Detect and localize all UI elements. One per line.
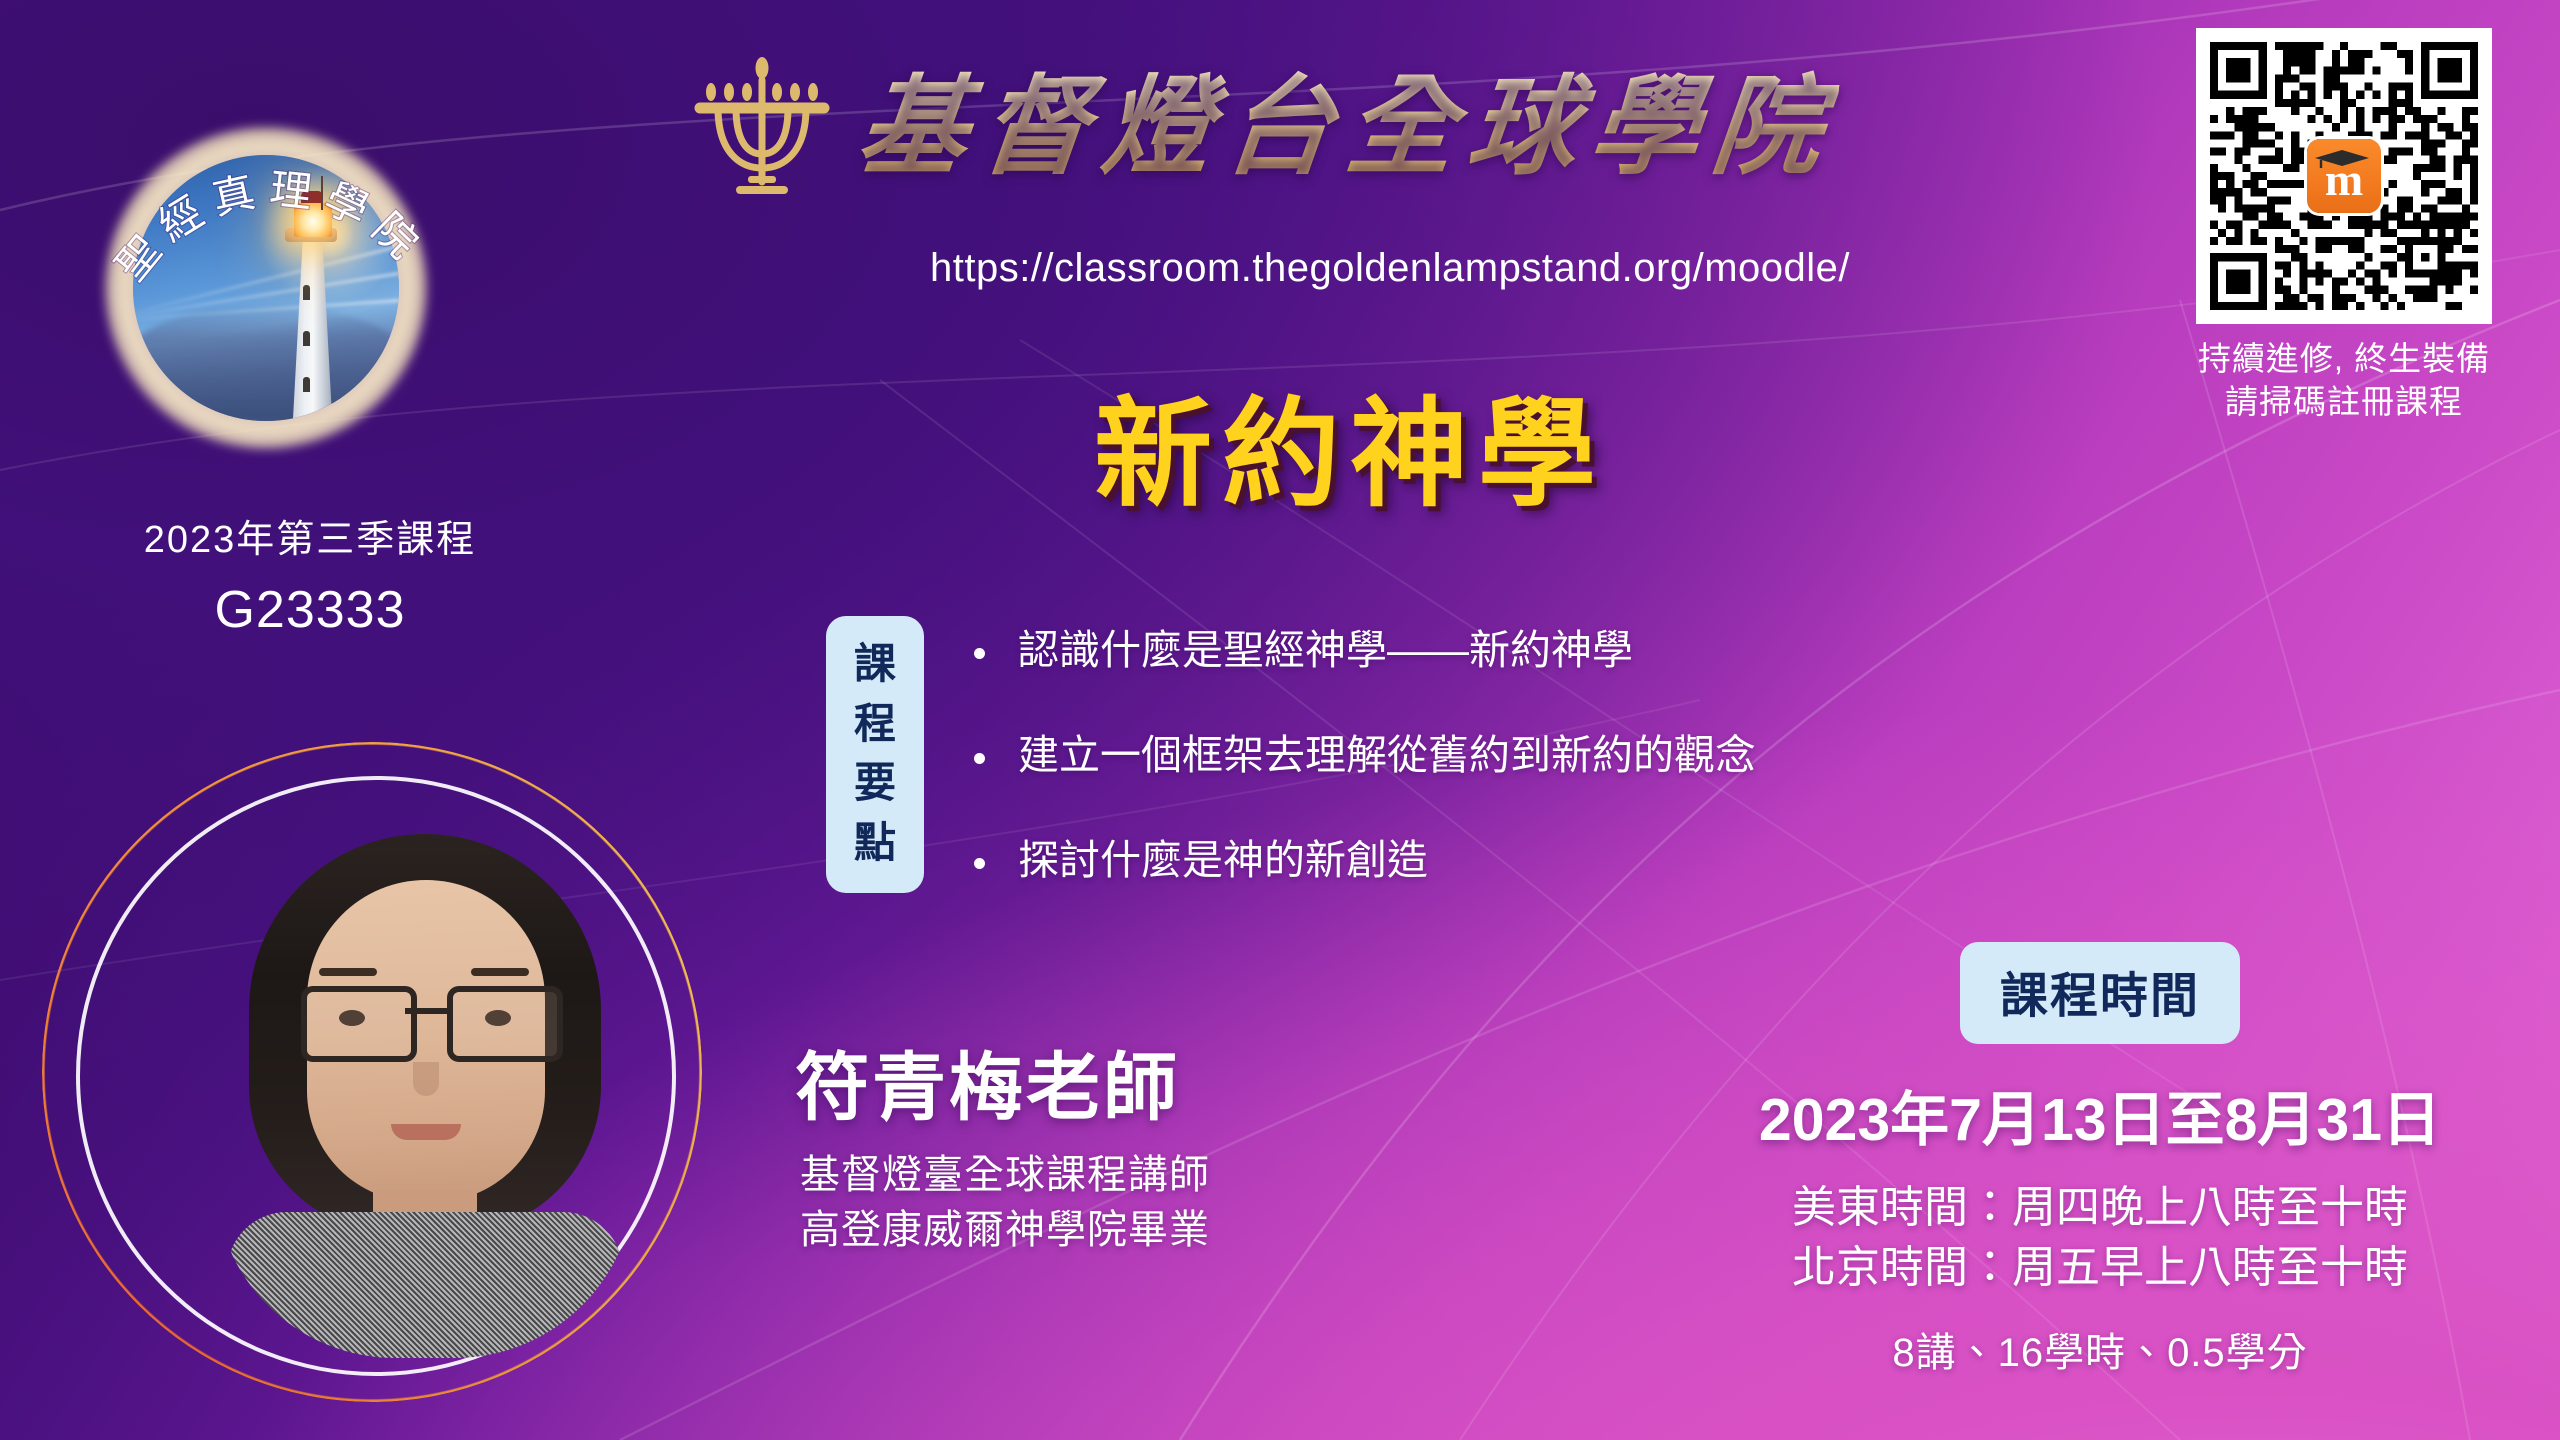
- highlights-badge-char-1: 程: [826, 694, 924, 754]
- instructor-credential-line: 基督燈臺全球課程講師: [800, 1148, 1210, 1203]
- schedule-dates: 2023年7月13日至8月31日: [1660, 1072, 2540, 1157]
- logo-arc-text: 聖經真理學院: [96, 118, 456, 458]
- list-item: 認識什麼是聖經神學——新約神學: [964, 630, 1756, 671]
- course-poster: 聖經真理學院 2023年第三季課程 G23333: [0, 0, 2560, 1440]
- list-item: 建立一個框架去理解從舊約到新約的觀念: [964, 735, 1756, 776]
- highlight-list: 認識什麼是聖經神學——新約神學 建立一個框架去理解從舊約到新約的觀念 探討什麼是…: [964, 616, 1756, 881]
- highlights-badge-char-0: 課: [826, 634, 924, 694]
- instructor-credentials: 基督燈臺全球課程講師 高登康威爾神學院畢業: [800, 1148, 1210, 1258]
- course-code: G23333: [0, 580, 620, 640]
- qr-caption: 持續進修, 終生裝備 請掃碼註冊課程: [2196, 338, 2492, 424]
- quarter-label: 2023年第三季課程: [0, 508, 620, 563]
- highlights-badge-char-2: 要: [826, 753, 924, 813]
- course-highlights: 課 程 要 點 認識什麼是聖經神學——新約神學 建立一個框架去理解從舊約到新約的…: [826, 616, 1756, 893]
- schedule-time-line: 北京時間：周五早上八時至十時: [1660, 1238, 2540, 1298]
- instructor-credential-line: 高登康威爾神學院畢業: [800, 1203, 1210, 1258]
- brand-header: 基督燈台全球學院: [640, 38, 2140, 198]
- institute-logo: 聖經真理學院: [96, 118, 456, 458]
- instructor-photo: [215, 818, 635, 1358]
- highlights-badge: 課 程 要 點: [826, 616, 924, 893]
- schedule-credits: 8講、16學時、0.5學分: [1660, 1320, 2540, 1378]
- instructor-name: 符青梅老師: [795, 1028, 1180, 1135]
- list-item: 探討什麼是神的新創造: [964, 840, 1756, 881]
- schedule-time-line: 美東時間：周四晚上八時至十時: [1660, 1178, 2540, 1238]
- highlights-badge-char-3: 點: [826, 813, 924, 873]
- logo-arc-label: 聖經真理學院: [107, 165, 434, 290]
- moodle-logo-icon: m: [2307, 139, 2381, 213]
- qr-caption-line: 請掃碼註冊課程: [2196, 381, 2492, 424]
- classroom-url[interactable]: https://classroom.thegoldenlampstand.org…: [640, 246, 2140, 291]
- svg-text:聖經真理學院: 聖經真理學院: [107, 165, 434, 290]
- qr-block: m 持續進修, 終生裝備 請掃碼註冊課程: [2196, 28, 2492, 424]
- moodle-letter: m: [2325, 157, 2363, 203]
- brand-title: 基督燈台全球學院: [852, 40, 1844, 196]
- instructor-avatar: [30, 730, 730, 1430]
- schedule-badge: 課程時間: [1960, 942, 2240, 1044]
- menorah-icon: [678, 44, 846, 194]
- schedule-times: 美東時間：周四晚上八時至十時 北京時間：周五早上八時至十時: [1660, 1178, 2540, 1298]
- qr-caption-line: 持續進修, 終生裝備: [2196, 338, 2492, 381]
- qr-code[interactable]: m: [2196, 28, 2492, 324]
- page-title: 新約神學: [640, 358, 2060, 529]
